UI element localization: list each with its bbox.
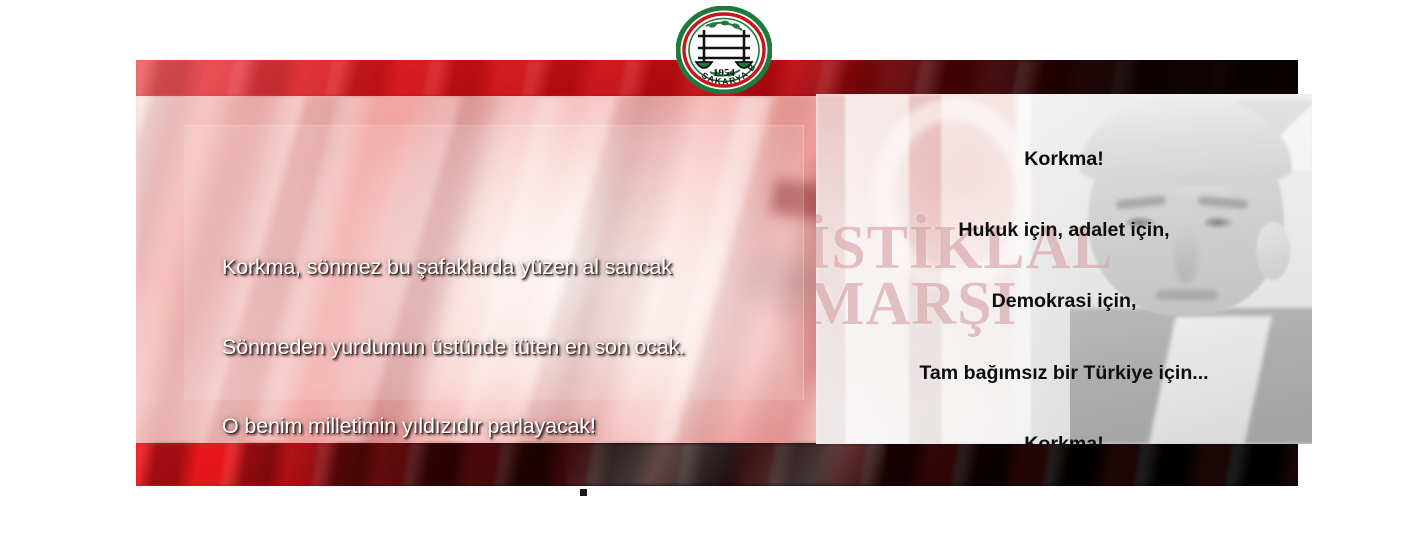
anthem-stanza-1: Korkma, sönmez bu şafaklarda yüzen al sa… [222, 201, 862, 486]
bar-association-seal-icon: 1954 SAKARYA BAROSU [676, 6, 772, 94]
anthem-line: O benim milletimin yıldızıdır parlayacak… [222, 413, 862, 440]
president-message: Korkma! Hukuk için, adalet için, Demokra… [816, 94, 1312, 444]
anthem-lyrics: Korkma, sönmez bu şafaklarda yüzen al sa… [222, 148, 862, 486]
stray-period-artifact [580, 489, 587, 496]
message-line: Korkma! [816, 148, 1312, 172]
sakarya-barosu-logo: 1954 SAKARYA BAROSU [676, 6, 772, 94]
message-line: Tam bağımsız bir Türkiye için... [816, 362, 1312, 386]
message-line: Demokrasi için, [816, 290, 1312, 314]
message-line: Hukuk için, adalet için, [816, 219, 1312, 243]
message-line: Korkma! [816, 433, 1312, 444]
banner-page: 1954 SAKARYA BAROSU Korkma, sönmez bu şa… [0, 0, 1416, 545]
anthem-banner: Korkma, sönmez bu şafaklarda yüzen al sa… [136, 60, 1298, 486]
anthem-line: Korkma, sönmez bu şafaklarda yüzen al sa… [222, 254, 862, 281]
message-panel: İSTİKLAL MARŞI Korkma! Hukuk için, adale… [816, 94, 1312, 444]
anthem-line: Sönmeden yurdumun üstünde tüten en son o… [222, 334, 862, 361]
